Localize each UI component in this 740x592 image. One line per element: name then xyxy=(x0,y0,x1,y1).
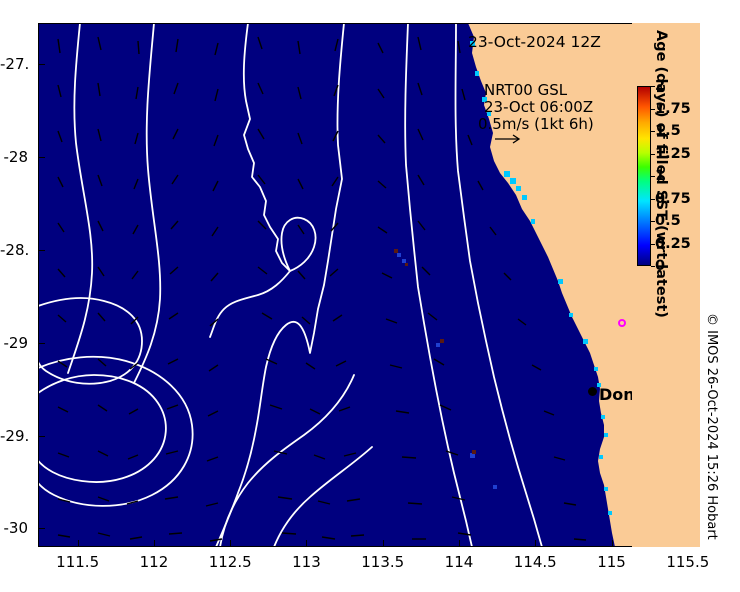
x-tick-label: 112.5 xyxy=(209,553,252,571)
y-tick-mark xyxy=(38,157,45,158)
sst-age-raster xyxy=(38,23,700,547)
depth-contour-legend: 200m 1000m xyxy=(652,498,700,530)
colorbar-gradient[interactable] xyxy=(637,86,651,266)
argo-float-marker[interactable] xyxy=(618,319,626,327)
vector-scale-label: 0.5m/s (1kt 6h) xyxy=(478,115,594,133)
x-tick-label: 114 xyxy=(445,553,474,571)
x-tick-mark xyxy=(154,540,155,547)
depth-200-label: 200m xyxy=(652,498,700,514)
x-tick-label: 111.5 xyxy=(56,553,99,571)
y-tick-label: -29.5 xyxy=(0,427,28,445)
x-tick-mark xyxy=(688,540,689,547)
y-tick-label: -30 xyxy=(0,519,28,537)
y-tick-mark xyxy=(38,64,45,65)
x-tick-label: 115.5 xyxy=(666,553,709,571)
y-tick-mark xyxy=(38,436,45,437)
x-tick-mark xyxy=(230,540,231,547)
dongara-label: Dongara xyxy=(599,385,676,404)
x-tick-mark xyxy=(306,540,307,547)
colorbar-title: Age (days) of filled SST (wrt latest) xyxy=(653,30,669,260)
depth-200-rule xyxy=(652,516,698,517)
dongara-town-marker[interactable] xyxy=(588,387,597,396)
figure-root: 23-Oct-2024 12Z NRT00 GSL 23-Oct 06:00Z … xyxy=(0,0,740,592)
y-tick-label: -28.5 xyxy=(0,241,28,259)
credit-text: © IMOS 26-Oct-2024 15:26 Hobart xyxy=(704,313,719,573)
y-tick-label: -29 xyxy=(0,334,28,352)
x-tick-mark xyxy=(612,540,613,547)
y-tick-mark xyxy=(38,343,45,344)
x-tick-mark xyxy=(78,540,79,547)
x-tick-label: 115 xyxy=(597,553,626,571)
y-tick-mark xyxy=(38,250,45,251)
model-time-label: 23-Oct 06:00Z xyxy=(484,98,593,116)
map-plot-area[interactable]: 23-Oct-2024 12Z NRT00 GSL 23-Oct 06:00Z … xyxy=(38,23,700,547)
y-tick-label: -27.5 xyxy=(0,55,28,73)
title-date: 23-Oct-2024 12Z xyxy=(468,33,601,51)
x-tick-mark xyxy=(459,540,460,547)
depth-1000-rule xyxy=(652,533,698,535)
x-tick-label: 112 xyxy=(140,553,169,571)
x-tick-label: 114.5 xyxy=(514,553,557,571)
y-tick-label: -28 xyxy=(0,148,28,166)
model-name-label: NRT00 GSL xyxy=(484,81,567,99)
x-tick-mark xyxy=(535,540,536,547)
x-tick-mark xyxy=(383,540,384,547)
x-tick-label: 113 xyxy=(292,553,321,571)
arrow-right-icon xyxy=(494,133,522,145)
x-tick-label: 113.5 xyxy=(361,553,404,571)
y-tick-mark xyxy=(38,528,45,529)
